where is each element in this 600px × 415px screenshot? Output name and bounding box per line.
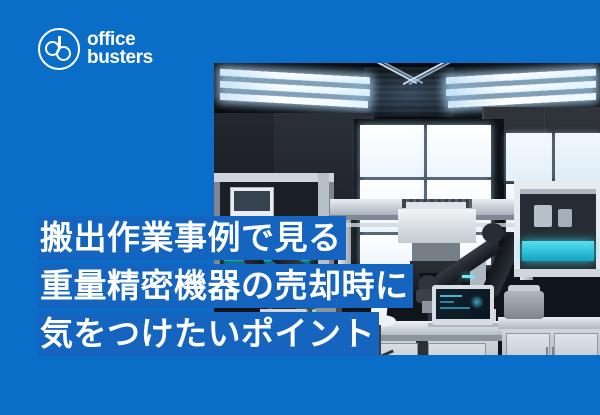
officebusters-logo[interactable]: office busters (38, 28, 153, 70)
light-panel (427, 125, 491, 177)
robot-arm-right-joint (482, 223, 504, 243)
cabinet-handle (552, 347, 554, 355)
fume-hood-sill (514, 269, 600, 277)
article-hero-banner: office busters 搬出作業事例で見る 重量精密機器の売却時に 気をつ… (0, 0, 600, 415)
light-panel (506, 133, 552, 181)
light-panel (360, 125, 424, 177)
screen-glow (470, 295, 484, 309)
headline-line-1: 搬出作業事例で見る (38, 216, 346, 260)
robot-accent-light (462, 275, 474, 278)
shelf-monitor (230, 187, 274, 219)
logo-letter-b-bowl (56, 46, 71, 61)
headline-line-2: 重量精密機器の売却時に (38, 264, 413, 308)
cyan-lit-sink (522, 241, 594, 261)
screen-graph-line (440, 295, 462, 297)
cabinet-door (428, 343, 486, 355)
glassware (534, 205, 552, 227)
logo-wordmark: office busters (87, 31, 153, 67)
machine-neck (412, 243, 460, 261)
hero-headline: 搬出作業事例で見る 重量精密機器の売却時に 気をつけたいポイント (38, 216, 413, 360)
headline-line-3: 気をつけたいポイント (38, 312, 379, 356)
cabinet-handle (546, 347, 548, 355)
light-panel (555, 133, 600, 181)
ceiling-glow (334, 63, 484, 115)
glassware (558, 209, 572, 227)
screen-graph-line (440, 301, 454, 303)
logo-wordmark-line2: busters (87, 49, 153, 67)
fume-hood-bar (520, 189, 596, 194)
ob-monogram-icon (38, 28, 80, 70)
lab-device (504, 291, 544, 319)
counter-cabinet-door (506, 333, 550, 355)
shelf-top (214, 173, 334, 182)
screen-graph-line (440, 307, 470, 309)
counter-cabinet-door (554, 333, 598, 355)
